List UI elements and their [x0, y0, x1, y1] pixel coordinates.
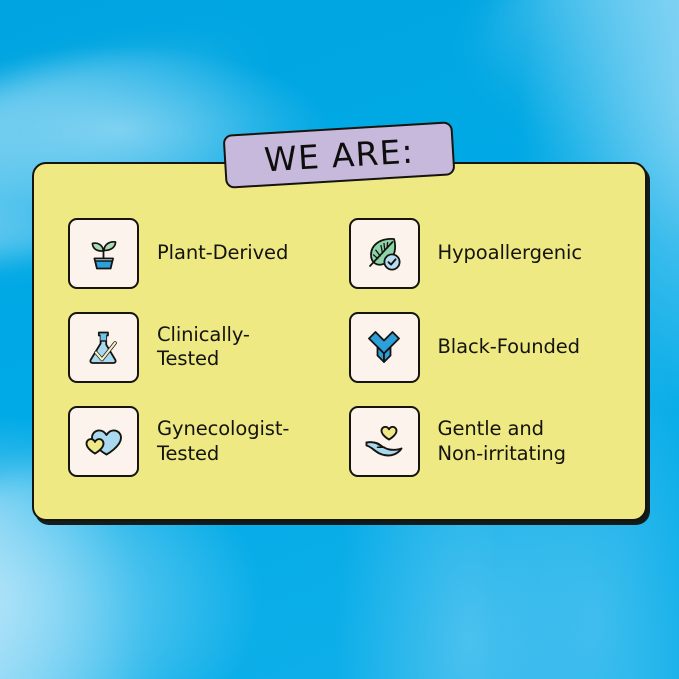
feature-label: Hypoallergenic	[438, 241, 582, 266]
leaf-check-icon	[349, 218, 420, 289]
feature-item-gynecologist-tested: Gynecologist- Tested	[68, 395, 343, 489]
feature-label: Gentle and Non-irritating	[438, 417, 566, 467]
feature-item-clinically-tested: Clinically- Tested	[68, 300, 343, 394]
feature-label: Plant-Derived	[157, 241, 288, 266]
feature-label: Gynecologist- Tested	[157, 417, 289, 467]
feature-item-plant-derived: Plant-Derived	[68, 206, 343, 300]
flask-check-icon	[68, 312, 139, 383]
feature-item-gentle-non-irritating: Gentle and Non-irritating	[349, 395, 624, 489]
feature-card: Plant-Derived Hypoallergenic	[32, 162, 647, 521]
hand-heart-icon	[349, 406, 420, 477]
page-title: WE ARE:	[263, 131, 415, 179]
potted-plant-icon	[68, 218, 139, 289]
feature-grid: Plant-Derived Hypoallergenic	[34, 164, 645, 519]
heart-icon	[349, 312, 420, 383]
feature-label: Clinically- Tested	[157, 323, 250, 373]
double-hearts-icon	[68, 406, 139, 477]
feature-label: Black-Founded	[438, 335, 580, 360]
feature-item-black-founded: Black-Founded	[349, 300, 624, 394]
feature-item-hypoallergenic: Hypoallergenic	[349, 206, 624, 300]
